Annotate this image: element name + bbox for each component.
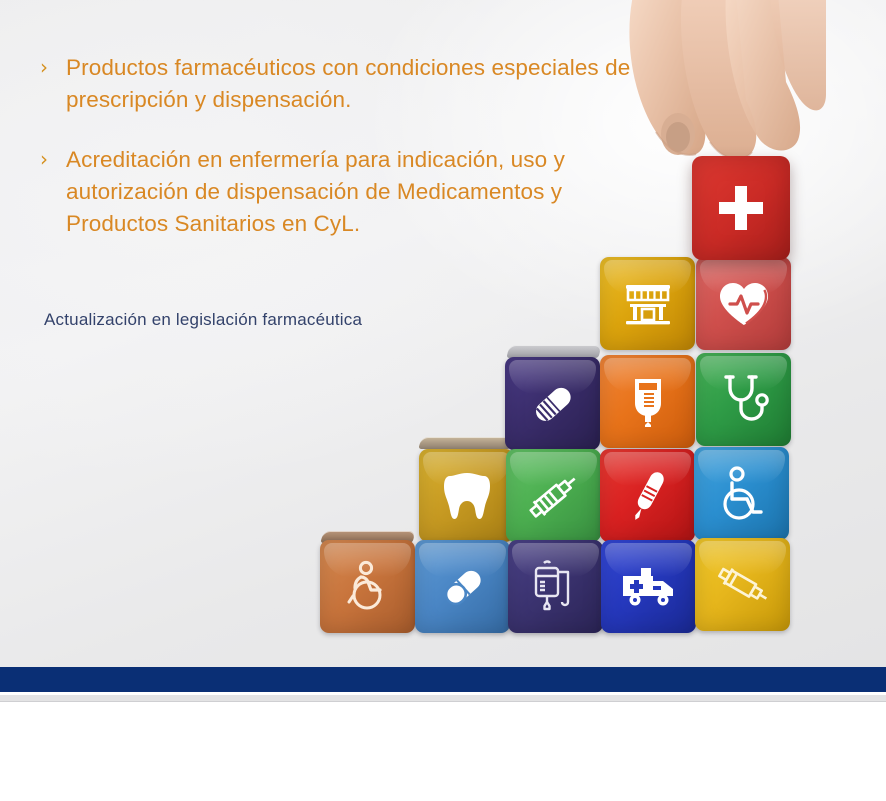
- photo-stage: › Productos farmacéuticos con condicione…: [0, 0, 886, 667]
- bullet-item: › Productos farmacéuticos con condicione…: [40, 52, 660, 116]
- capsule-pill-icon: [435, 560, 491, 614]
- vaccine-needle-icon: [620, 466, 676, 526]
- pharmacy-storefront-icon: [621, 278, 675, 330]
- wheelchair-active-icon: [341, 560, 395, 614]
- bullet-text: Productos farmacéuticos con condiciones …: [66, 52, 660, 116]
- block-iv-bag: [600, 355, 695, 448]
- slide-root: › Productos farmacéuticos con condicione…: [0, 0, 886, 801]
- chevron-right-icon: ›: [40, 144, 66, 174]
- navy-divider-band: [0, 667, 886, 692]
- block-top-face: [418, 437, 513, 449]
- syringe-icon: [712, 556, 774, 614]
- capsule-pill-icon: [526, 377, 580, 431]
- block-syringe-green: [506, 449, 601, 542]
- ambulance-icon: [619, 564, 679, 610]
- syringe-icon: [523, 466, 585, 526]
- block-tooth: [419, 449, 514, 542]
- block-ambulance: [601, 540, 696, 633]
- stethoscope-icon: [717, 372, 771, 428]
- block-wheelchair-blue: [694, 447, 789, 540]
- block-heart-pulse: [696, 257, 791, 350]
- block-pharmacy: [600, 257, 695, 350]
- bullet-list: › Productos farmacéuticos con condicione…: [40, 52, 660, 268]
- bullet-item: › Acreditación en enfermería para indica…: [40, 144, 660, 240]
- held-block-cross: [692, 156, 790, 260]
- block-wheelchair-active: [320, 540, 415, 633]
- block-iv-stand: [508, 540, 603, 633]
- block-stethoscope: [696, 353, 791, 446]
- block-syringe-gold: [695, 538, 790, 631]
- iv-stand-icon: [528, 558, 584, 616]
- subtitle-text: Actualización en legislación farmacéutic…: [44, 310, 362, 330]
- tooth-icon: [441, 468, 493, 524]
- iv-drip-bag-icon: [624, 373, 672, 431]
- medical-cross-icon: [715, 182, 767, 234]
- footer: Junta de Castilla y León Sacyl: [0, 702, 886, 801]
- heart-pulse-icon: [716, 279, 772, 329]
- block-capsule-purple: [505, 357, 600, 450]
- block-vaccine-needle: [600, 449, 695, 542]
- bullet-text: Acreditación en enfermería para indicaci…: [66, 144, 660, 240]
- wheelchair-icon: [715, 466, 769, 522]
- chevron-right-icon: ›: [40, 52, 66, 82]
- block-capsule-blue: [415, 540, 510, 633]
